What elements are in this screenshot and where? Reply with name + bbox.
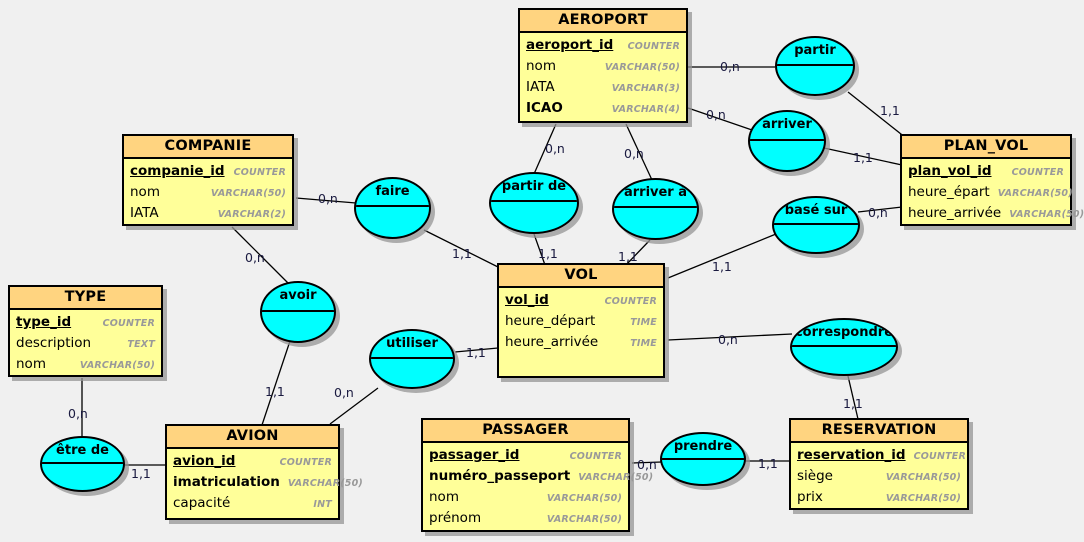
relationship-label: correspondre	[795, 326, 893, 339]
cardinality-label: 1,1	[712, 259, 732, 274]
cardinality-label: 0,n	[718, 332, 738, 347]
relationship-faire[interactable]: faire	[354, 177, 431, 239]
attribute-list-companie: companie_idCOUNTERnomVARCHAR(50)IATAVARC…	[124, 159, 292, 226]
attribute-type: VARCHAR(50)	[1001, 204, 1084, 225]
cardinality-label: 0,n	[318, 191, 338, 206]
attribute-type: COUNTER	[906, 446, 966, 467]
entity-title-vol: VOL	[499, 265, 663, 288]
attribute-name: plan_vol_id	[908, 161, 992, 182]
relationship-divider	[662, 458, 744, 460]
entity-title-avion: AVION	[167, 426, 338, 449]
attribute-name: avion_id	[173, 451, 235, 472]
attribute-row: heure_arrivéeVARCHAR(50)	[902, 203, 1070, 224]
attribute-type: VARCHAR(2)	[210, 204, 286, 225]
attribute-list-plan_vol: plan_vol_idCOUNTERheure_épartVARCHAR(50)…	[902, 159, 1070, 226]
attribute-row: companie_idCOUNTER	[124, 161, 292, 182]
relationship-divider	[774, 223, 858, 225]
attribute-row: plan_vol_idCOUNTER	[902, 161, 1070, 182]
entity-reservation[interactable]: RESERVATIONreservation_idCOUNTERsiègeVAR…	[789, 418, 969, 510]
attribute-type: COUNTER	[1004, 162, 1064, 183]
cardinality-label: 1,1	[265, 384, 285, 399]
cardinality-label: 0,n	[868, 205, 888, 220]
entity-title-reservation: RESERVATION	[791, 420, 967, 443]
cardinality-label: 1,1	[843, 396, 863, 411]
attribute-name: capacité	[173, 493, 230, 514]
attribute-row: descriptionTEXT	[10, 333, 161, 354]
attribute-name: nom	[130, 182, 160, 203]
attribute-type: VARCHAR(50)	[203, 183, 286, 204]
attribute-name: nom	[16, 354, 46, 375]
attribute-name: siège	[797, 466, 833, 487]
cardinality-label: 1,1	[758, 456, 778, 471]
attribute-row: heure_arrivéeTIME	[499, 332, 663, 353]
attribute-name: nom	[526, 56, 556, 77]
relationship-divider	[614, 206, 697, 208]
attribute-row: type_idCOUNTER	[10, 312, 161, 333]
relationship-divider	[491, 200, 577, 202]
attribute-name: prénom	[429, 508, 481, 529]
attribute-type: VARCHAR(4)	[604, 99, 680, 120]
attribute-type: TIME	[622, 333, 657, 354]
entity-title-plan_vol: PLAN_VOL	[902, 136, 1070, 159]
cardinality-label: 0,n	[334, 385, 354, 400]
attribute-name: aeroport_id	[526, 35, 613, 56]
attribute-name: type_id	[16, 312, 71, 333]
entity-plan_vol[interactable]: PLAN_VOLplan_vol_idCOUNTERheure_épartVAR…	[900, 134, 1072, 226]
attribute-type: VARCHAR(50)	[539, 509, 622, 530]
er-diagram-canvas: AEROPORTaeroport_idCOUNTERnomVARCHAR(50)…	[0, 0, 1084, 542]
relationship-divider	[777, 64, 853, 66]
attribute-row: aeroport_idCOUNTER	[520, 35, 686, 56]
attribute-list-passager: passager_idCOUNTERnuméro_passeportVARCHA…	[423, 443, 628, 531]
attribute-row: heure_départTIME	[499, 311, 663, 332]
attribute-name: passager_id	[429, 445, 519, 466]
attribute-row: vol_idCOUNTER	[499, 290, 663, 311]
relationship-prendre[interactable]: prendre	[660, 432, 746, 486]
relationship-etre_de[interactable]: être de	[40, 436, 125, 492]
attribute-name: nom	[429, 487, 459, 508]
attribute-type: COUNTER	[272, 452, 332, 473]
cardinality-label: 1,1	[880, 103, 900, 118]
attribute-type: VARCHAR(50)	[990, 183, 1073, 204]
attribute-name: companie_id	[130, 161, 225, 182]
attribute-name: IATA	[130, 203, 159, 224]
relationship-utiliser[interactable]: utiliser	[369, 329, 455, 389]
attribute-row: reservation_idCOUNTER	[791, 445, 967, 466]
attribute-row: numéro_passeportVARCHAR(50)	[423, 466, 628, 487]
attribute-row: passager_idCOUNTER	[423, 445, 628, 466]
cardinality-label: 0,n	[68, 406, 88, 421]
attribute-row: IATAVARCHAR(3)	[520, 77, 686, 98]
attribute-type: COUNTER	[597, 291, 657, 312]
attribute-type: COUNTER	[620, 36, 680, 57]
attribute-row: nomVARCHAR(50)	[124, 182, 292, 203]
relationship-label: prendre	[674, 440, 732, 453]
attribute-name: heure_arrivée	[908, 203, 1001, 224]
attribute-name: vol_id	[505, 290, 549, 311]
entity-type[interactable]: TYPEtype_idCOUNTERdescriptionTEXTnomVARC…	[8, 285, 163, 377]
attribute-type: VARCHAR(50)	[539, 488, 622, 509]
attribute-type: COUNTER	[562, 446, 622, 467]
attribute-type: VARCHAR(3)	[604, 78, 680, 99]
cardinality-label: 1,1	[618, 249, 638, 264]
attribute-name: heure_départ	[505, 311, 595, 332]
attribute-list-type: type_idCOUNTERdescriptionTEXTnomVARCHAR(…	[10, 310, 161, 377]
attribute-type: INT	[305, 494, 332, 515]
attribute-row: capacitéINT	[167, 493, 338, 514]
attribute-type: VARCHAR(50)	[878, 488, 961, 509]
attribute-name: imatriculation	[173, 472, 280, 493]
cardinality-label: 0,n	[720, 59, 740, 74]
relationship-label: utiliser	[386, 337, 438, 350]
attribute-type: TEXT	[119, 334, 155, 355]
entity-title-passager: PASSAGER	[423, 420, 628, 443]
attribute-type: VARCHAR(50)	[72, 355, 155, 376]
attribute-row: nomVARCHAR(50)	[520, 56, 686, 77]
attribute-row: prénomVARCHAR(50)	[423, 508, 628, 529]
attribute-type: VARCHAR(50)	[597, 57, 680, 78]
cardinality-label: 1,1	[853, 150, 873, 165]
cardinality-label: 1,1	[538, 246, 558, 261]
attribute-list-aeroport: aeroport_idCOUNTERnomVARCHAR(50)IATAVARC…	[520, 33, 686, 121]
relationship-arriver[interactable]: arriver	[748, 110, 826, 172]
relationship-label: arriver	[762, 118, 812, 131]
attribute-row: heure_épartVARCHAR(50)	[902, 182, 1070, 203]
relationship-label: être de	[56, 444, 109, 457]
entity-vol[interactable]: VOLvol_idCOUNTERheure_départTIMEheure_ar…	[497, 263, 665, 378]
entity-title-type: TYPE	[10, 287, 161, 310]
edge-avoir-avion	[262, 341, 290, 425]
relationship-label: partir de	[502, 180, 566, 193]
relationship-label: arriver à	[624, 186, 687, 199]
entity-aeroport[interactable]: AEROPORTaeroport_idCOUNTERnomVARCHAR(50)…	[518, 8, 688, 123]
attribute-name: IATA	[526, 77, 555, 98]
attribute-name: ICAO	[526, 98, 563, 119]
attribute-name: numéro_passeport	[429, 466, 570, 487]
cardinality-label: 0,n	[637, 457, 657, 472]
relationship-divider	[42, 462, 123, 464]
relationship-partir[interactable]: partir	[775, 36, 855, 96]
cardinality-label: 1,1	[466, 345, 486, 360]
relationship-divider	[792, 345, 896, 347]
attribute-type: VARCHAR(50)	[280, 473, 363, 494]
cardinality-label: 0,n	[706, 107, 726, 122]
cardinality-label: 0,n	[245, 250, 265, 265]
relationship-divider	[750, 139, 824, 141]
attribute-type: VARCHAR(50)	[878, 467, 961, 488]
attribute-list-avion: avion_idCOUNTERimatriculationVARCHAR(50)…	[167, 449, 338, 516]
relationship-label: faire	[375, 185, 409, 198]
attribute-type: TIME	[622, 312, 657, 333]
relationship-label: basé sur	[785, 204, 848, 217]
attribute-name: reservation_id	[797, 445, 906, 466]
attribute-row: siègeVARCHAR(50)	[791, 466, 967, 487]
attribute-name: prix	[797, 487, 823, 508]
relationship-label: avoir	[279, 289, 316, 302]
relationship-divider	[262, 310, 334, 312]
relationship-arriver_a[interactable]: arriver à	[612, 178, 699, 240]
attribute-row: ICAOVARCHAR(4)	[520, 98, 686, 119]
attribute-row: nomVARCHAR(50)	[423, 487, 628, 508]
attribute-name: description	[16, 333, 91, 354]
cardinality-label: 0,n	[624, 146, 644, 161]
attribute-row: nomVARCHAR(50)	[10, 354, 161, 375]
entity-title-companie: COMPANIE	[124, 136, 292, 159]
entity-companie[interactable]: COMPANIEcompanie_idCOUNTERnomVARCHAR(50)…	[122, 134, 294, 226]
relationship-correspondre[interactable]: correspondre	[790, 318, 898, 376]
relationship-partir_de[interactable]: partir de	[489, 172, 579, 234]
attribute-row: imatriculationVARCHAR(50)	[167, 472, 338, 493]
entity-title-aeroport: AEROPORT	[520, 10, 686, 33]
cardinality-label: 1,1	[452, 246, 472, 261]
relationship-avoir[interactable]: avoir	[260, 281, 336, 343]
relationship-base_sur[interactable]: basé sur	[772, 196, 860, 254]
attribute-type: COUNTER	[226, 162, 286, 183]
attribute-list-reservation: reservation_idCOUNTERsiègeVARCHAR(50)pri…	[791, 443, 967, 510]
attribute-row: avion_idCOUNTER	[167, 451, 338, 472]
attribute-name: heure_arrivée	[505, 332, 598, 353]
relationship-divider	[356, 205, 429, 207]
attribute-row: prixVARCHAR(50)	[791, 487, 967, 508]
attribute-type: COUNTER	[95, 313, 155, 334]
attribute-row: IATAVARCHAR(2)	[124, 203, 292, 224]
attribute-name: heure_épart	[908, 182, 990, 203]
relationship-divider	[371, 357, 453, 359]
cardinality-label: 1,1	[131, 466, 151, 481]
attribute-list-vol: vol_idCOUNTERheure_départTIMEheure_arriv…	[499, 288, 663, 355]
relationship-label: partir	[794, 44, 836, 57]
entity-passager[interactable]: PASSAGERpassager_idCOUNTERnuméro_passepo…	[421, 418, 630, 532]
cardinality-label: 0,n	[545, 141, 565, 156]
entity-avion[interactable]: AVIONavion_idCOUNTERimatriculationVARCHA…	[165, 424, 340, 520]
